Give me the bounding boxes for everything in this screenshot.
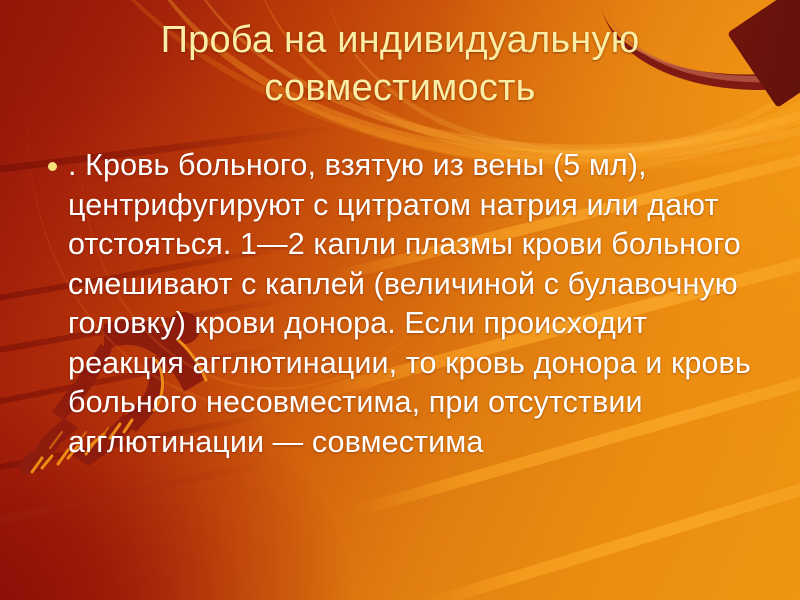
bullet-text: . Кровь больного, взятую из вены (5 мл),… xyxy=(68,146,758,462)
bullet-point-icon xyxy=(48,162,57,171)
slide-title: Проба на индивидуальную совместимость xyxy=(40,16,760,112)
presentation-slide: Проба на индивидуальную совместимость . … xyxy=(0,0,800,600)
slide-body: . Кровь больного, взятую из вены (5 мл),… xyxy=(48,146,758,462)
